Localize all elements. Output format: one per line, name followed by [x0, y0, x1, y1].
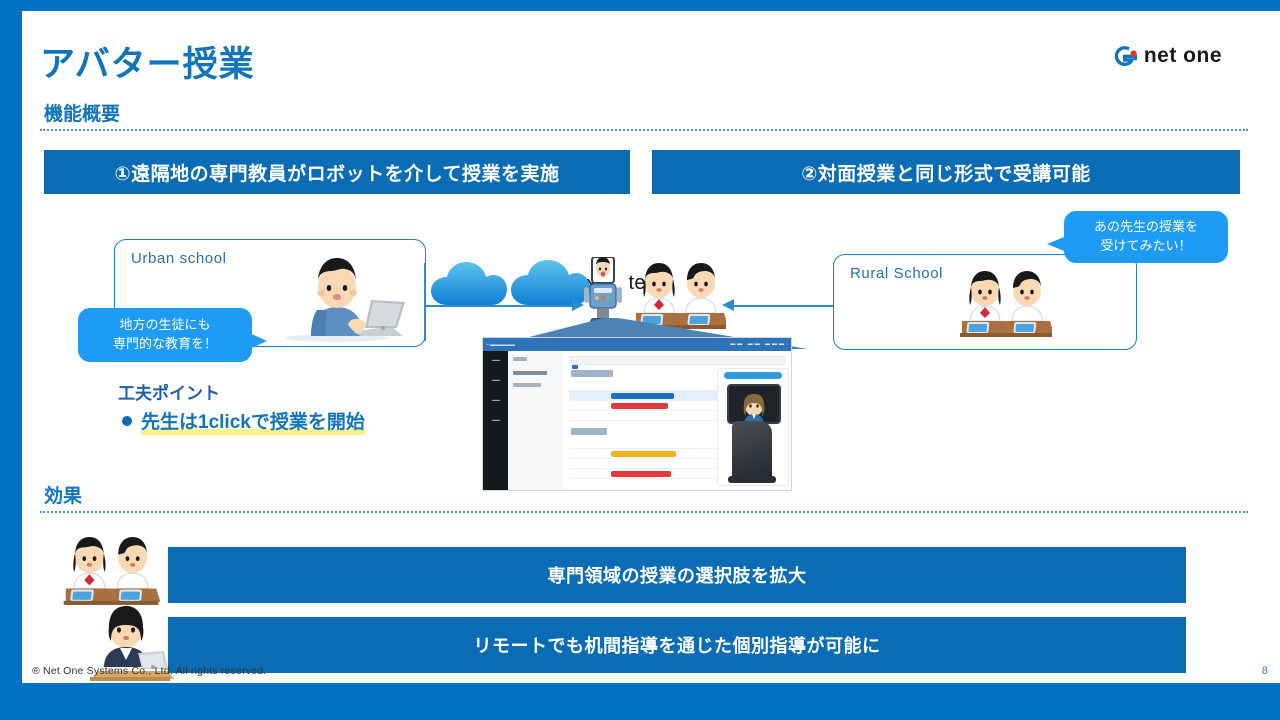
- footer-copyright: ® Net One Systems Co., Ltd. All rights r…: [32, 665, 266, 677]
- arrow-connector-urban: [424, 263, 426, 341]
- section-label: 効果: [40, 481, 1248, 508]
- app-breadcrumb[interactable]: [569, 356, 785, 365]
- rail-item-4[interactable]: ▬▬: [487, 417, 505, 422]
- section-header-effects: 効果: [40, 481, 1248, 513]
- bubble-urban: 地方の生徒にも 専門的な教育を！: [78, 308, 252, 362]
- slide: アバター授業 net one 機能概要 ①遠隔地の専門教員がロボットを介して授業…: [0, 0, 1280, 720]
- page-number: 8: [1262, 665, 1268, 677]
- bubble-urban-line-2: 専門的な教育を！: [113, 335, 217, 354]
- brand-logo: net one: [1113, 44, 1222, 68]
- app-screenshot[interactable]: ▪ ▬▬▬▬▬ ▬▬ ▬▬ ▬▬▬ ▬▬ ▬▬ ▬▬ ▬▬: [482, 337, 792, 491]
- rural-school-box: Rural School: [833, 254, 1137, 350]
- point-item-1: 先生は1clickで授業を開始: [122, 407, 365, 435]
- rural-students-illustration: [960, 269, 1052, 339]
- feature-banner-2-label: ②対面授業と同じ形式で受講可能: [801, 159, 1091, 186]
- effect-banner-1-label: 専門領域の授業の選択肢を拡大: [548, 562, 807, 588]
- section-divider: [40, 511, 1248, 513]
- app-titlebar-actions: ▬▬ ▬▬ ▬▬▬: [730, 341, 786, 347]
- app-robot-screen: [727, 384, 781, 424]
- app-logo-icon: ▪ ▬▬▬▬▬: [487, 342, 515, 348]
- effect-students-illustration: [62, 535, 160, 607]
- feature-banner-1: ①遠隔地の専門教員がロボットを介して授業を実施: [44, 150, 630, 194]
- teacher-at-laptop-illustration: [265, 248, 405, 344]
- bubble-rural: あの先生の授業を 受けてみたい！: [1064, 211, 1228, 263]
- app-robot-panel: [717, 368, 789, 486]
- effect-banner-2-label: リモートでも机間指導を通じた個別指導が可能に: [474, 632, 881, 658]
- bubble-urban-line-1: 地方の生徒にも: [119, 316, 210, 335]
- rail-item-2[interactable]: ▬▬: [487, 377, 505, 382]
- app-secondary-nav[interactable]: [508, 351, 564, 490]
- section-divider: [40, 129, 1248, 131]
- urban-school-label: Urban school: [131, 250, 227, 267]
- arrow-urban-to-robot-line: [424, 305, 574, 307]
- arrow-rural-to-robot-line: [728, 305, 834, 307]
- app-section-title-b: [571, 428, 607, 435]
- app-robot-body: [732, 421, 772, 481]
- app-section-title-a: [571, 370, 613, 377]
- logo-text: net one: [1144, 44, 1222, 68]
- effect-banner-1: 専門領域の授業の選択肢を拡大: [168, 547, 1186, 603]
- net-one-g-mark-icon: [1113, 45, 1137, 67]
- section-label: 機能概要: [40, 99, 1248, 126]
- app-robot-status-badge: [724, 372, 782, 379]
- effect-banner-2: リモートでも机間指導を通じた個別指導が可能に: [168, 617, 1186, 673]
- point-item-1-label: 先生は1clickで授業を開始: [141, 407, 365, 435]
- bubble-rural-line-2: 受けてみたい！: [1100, 237, 1191, 256]
- rural-school-label: Rural School: [850, 265, 943, 282]
- app-left-rail[interactable]: ▬▬ ▬▬ ▬▬ ▬▬: [483, 351, 508, 490]
- bullet-dot-icon: [122, 416, 132, 426]
- teacher-face-illustration: [738, 393, 770, 423]
- rail-item-1[interactable]: ▬▬: [487, 357, 505, 362]
- page-title: アバター授業: [40, 36, 255, 87]
- bubble-rural-tail: [1047, 235, 1069, 253]
- feature-banner-2: ②対面授業と同じ形式で受講可能: [652, 150, 1240, 194]
- rail-item-3[interactable]: ▬▬: [487, 397, 505, 402]
- slide-canvas: アバター授業 net one 機能概要 ①遠隔地の専門教員がロボットを介して授業…: [22, 11, 1280, 683]
- bubble-urban-tail: [247, 332, 267, 350]
- cloud-webex: Webex: [427, 259, 519, 311]
- app-titlebar: ▪ ▬▬▬▬▬ ▬▬ ▬▬ ▬▬▬: [483, 338, 791, 351]
- point-heading: 工夫ポイント: [118, 379, 220, 404]
- bubble-rural-line-1: あの先生の授業を: [1094, 218, 1198, 237]
- feature-banner-1-label: ①遠隔地の専門教員がロボットを介して授業を実施: [114, 159, 559, 186]
- section-header-features: 機能概要: [40, 99, 1248, 131]
